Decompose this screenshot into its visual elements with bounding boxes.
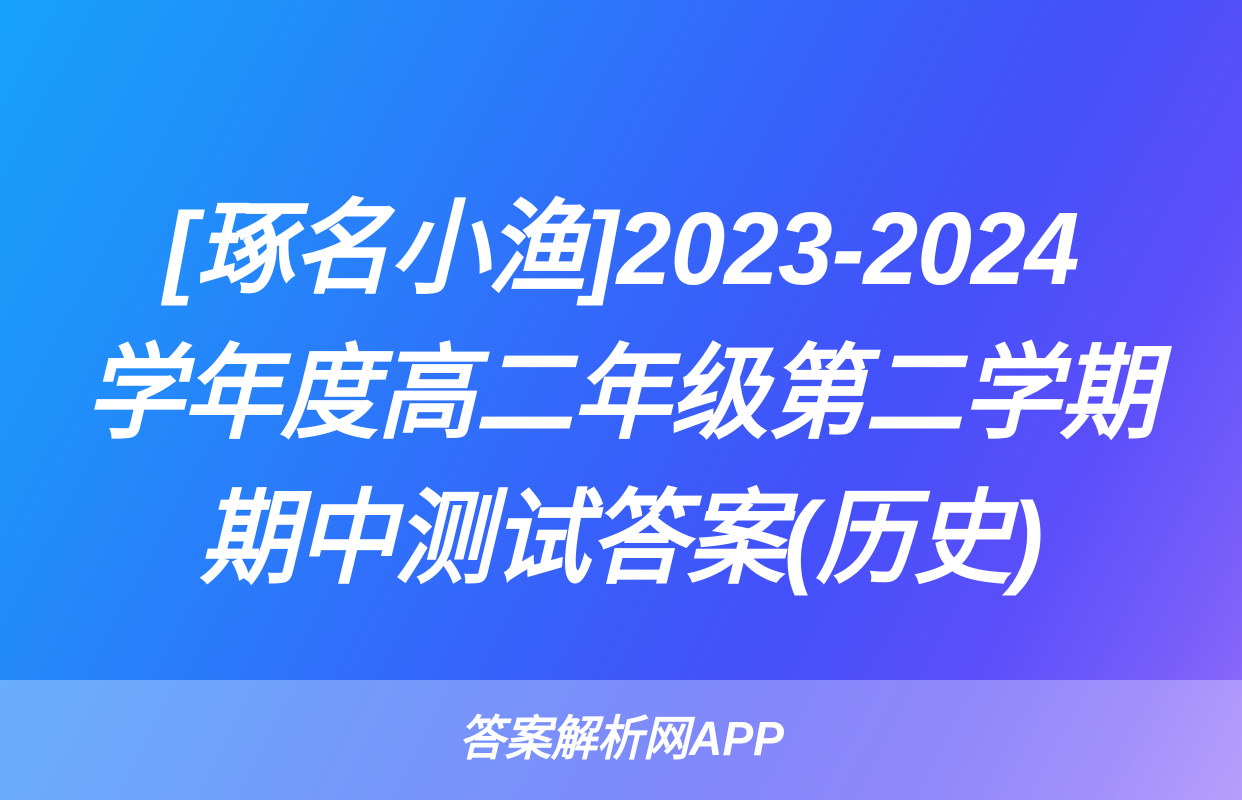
title-line-3: 期中测试答案(历史) (28, 466, 1214, 611)
page-title: [琢名小渔]2023-2024 学年度高二年级第二学期 期中测试答案(历史) (0, 176, 1242, 611)
footer-band: 答案解析网APP (0, 680, 1242, 800)
app-name-label: 答案解析网APP (458, 716, 783, 764)
title-card: [琢名小渔]2023-2024 学年度高二年级第二学期 期中测试答案(历史) 答… (0, 0, 1242, 800)
title-line-1: [琢名小渔]2023-2024 (28, 176, 1214, 321)
title-line-2: 学年度高二年级第二学期 (28, 321, 1214, 466)
